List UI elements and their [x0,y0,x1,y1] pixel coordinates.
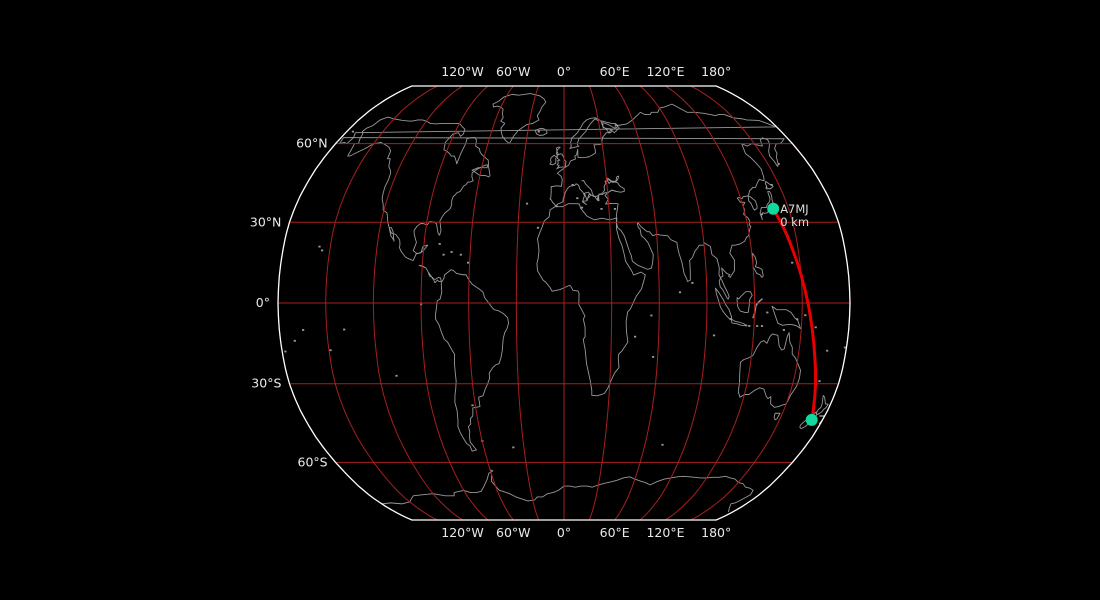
island-marker [395,375,397,377]
lon-tick-label-top: 60°E [600,64,630,79]
island-marker [761,325,763,327]
lon-tick-label-bottom: 180° [701,525,731,540]
island-marker [443,254,445,256]
island-marker [600,208,602,210]
island-marker [572,184,574,186]
island-marker [526,203,528,205]
island-marker [791,262,793,264]
island-marker [318,246,320,248]
island-marker [471,404,473,406]
island-marker [778,163,780,165]
island-marker [537,227,539,229]
lon-tick-label-top: 180° [701,64,731,79]
island-marker [661,444,663,446]
island-marker [634,336,636,338]
island-marker [330,349,332,351]
station-marker-zl3tux[interactable] [806,414,818,426]
island-marker [284,351,286,353]
lat-tick-label: 60°S [298,454,328,469]
figure-canvas: Robinson Projection QM08 to RE66HO (157°… [0,0,1100,600]
map-background [0,0,1100,600]
island-marker [650,315,652,317]
island-marker [691,282,693,284]
island-marker [815,326,817,328]
island-marker [804,314,806,316]
island-marker [748,325,750,327]
island-marker [451,251,453,253]
robinson-map-svg[interactable]: A7MJ0 kmZL3TUX9,614 km 0°0°60°E60°E120°E… [0,0,1100,600]
lon-tick-label-top: 60°W [496,64,531,79]
map-container[interactable]: A7MJ0 kmZL3TUX9,614 km 0°0°60°E60°E120°E… [0,0,1100,600]
island-marker [652,356,654,358]
island-marker [460,254,462,256]
lat-tick-label: 30°S [251,376,281,391]
island-marker [467,262,469,264]
island-marker [796,318,798,320]
lat-tick-label: 0° [256,295,270,310]
island-marker [352,131,354,133]
island-marker [439,243,441,245]
island-marker [745,325,747,327]
lon-tick-label-top: 120°E [646,64,684,79]
island-marker [826,350,828,352]
island-marker [321,250,323,252]
island-marker [783,329,785,331]
lon-tick-label-bottom: 60°W [496,525,531,540]
island-marker [713,335,715,337]
island-marker [679,291,681,293]
island-marker [538,131,540,133]
island-marker [343,329,345,331]
island-marker [294,340,296,342]
lon-tick-label-bottom: 120°E [646,525,684,540]
island-marker [576,197,578,199]
lon-tick-label-top: 0° [557,64,571,79]
island-marker [512,447,514,449]
island-marker [730,318,732,320]
island-marker [818,380,820,382]
island-marker [771,184,773,186]
lon-tick-label-bottom: 60°E [600,525,630,540]
station-marker-a7mj[interactable] [767,203,779,215]
island-marker [761,213,763,215]
island-marker [302,329,304,331]
station-distance-label: 0 km [780,215,809,229]
island-marker [756,325,758,327]
station-callsign-label: A7MJ [780,202,809,216]
lon-tick-label-top: 120°W [441,64,483,79]
lon-tick-label-bottom: 0° [557,525,571,540]
island-marker [556,205,558,207]
lon-tick-label-bottom: 120°W [441,525,483,540]
island-marker [766,312,768,314]
island-marker [614,208,616,210]
island-marker [581,207,583,209]
lat-tick-label: 60°N [296,136,328,151]
lat-tick-label: 30°N [250,214,282,229]
